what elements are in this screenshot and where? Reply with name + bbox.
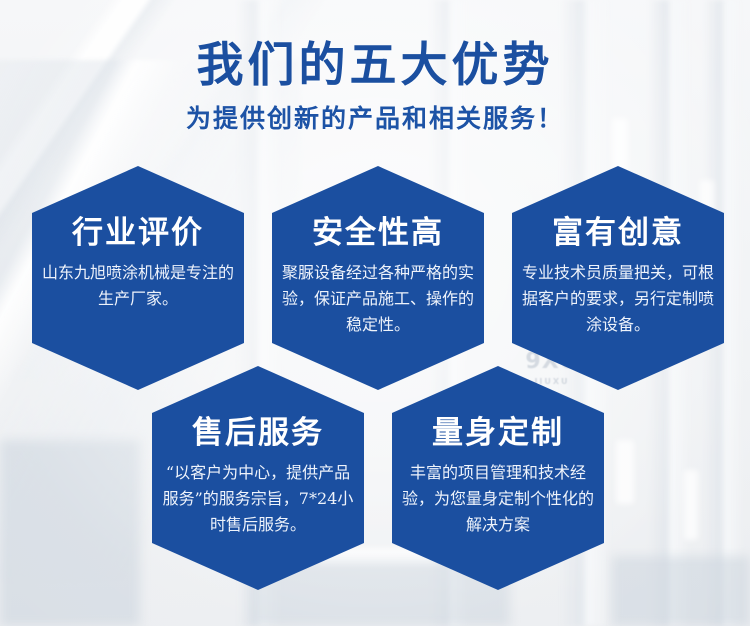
advantage-hexagon-high-safety[interactable]: 安全性高 聚脲设备经过各种严格的实验，保证产品施工、操作的稳定性。 <box>272 166 484 390</box>
page-subtitle: 为提供创新的产品和相关服务！ <box>0 102 750 136</box>
advantage-body: 丰富的项目管理和技术经验，为您量身定制个性化的解决方案 <box>400 460 596 538</box>
advantage-title: 售后服务 <box>192 414 324 452</box>
advantage-title: 安全性高 <box>312 214 444 252</box>
page-title: 我们的五大优势 <box>0 38 750 94</box>
advantage-title: 量身定制 <box>432 414 564 452</box>
promo-banner: 9XU JIUXU 我们的五大优势 为提供创新的产品和相关服务！ 行业评价 山东… <box>0 0 750 626</box>
advantage-title: 行业评价 <box>72 214 204 252</box>
advantage-title: 富有创意 <box>552 214 684 252</box>
advantage-body: 山东九旭喷涂机械是专注的生产厂家。 <box>40 260 236 312</box>
advantage-body: “以客户为中心，提供产品服务”的服务宗旨，7*24小时售后服务。 <box>160 460 356 538</box>
advantage-hexagon-after-sales[interactable]: 售后服务 “以客户为中心，提供产品服务”的服务宗旨，7*24小时售后服务。 <box>152 366 364 590</box>
advantage-hexagon-industry-rating[interactable]: 行业评价 山东九旭喷涂机械是专注的生产厂家。 <box>32 166 244 390</box>
heading-block: 我们的五大优势 为提供创新的产品和相关服务！ <box>0 38 750 136</box>
advantage-hexagon-tailor-made[interactable]: 量身定制 丰富的项目管理和技术经验，为您量身定制个性化的解决方案 <box>392 366 604 590</box>
advantage-body: 专业技术员质量把关，可根据客户的要求，另行定制喷涂设备。 <box>520 260 716 338</box>
advantage-body: 聚脲设备经过各种严格的实验，保证产品施工、操作的稳定性。 <box>280 260 476 338</box>
advantage-hexagon-creative[interactable]: 富有创意 专业技术员质量把关，可根据客户的要求，另行定制喷涂设备。 <box>512 166 724 390</box>
